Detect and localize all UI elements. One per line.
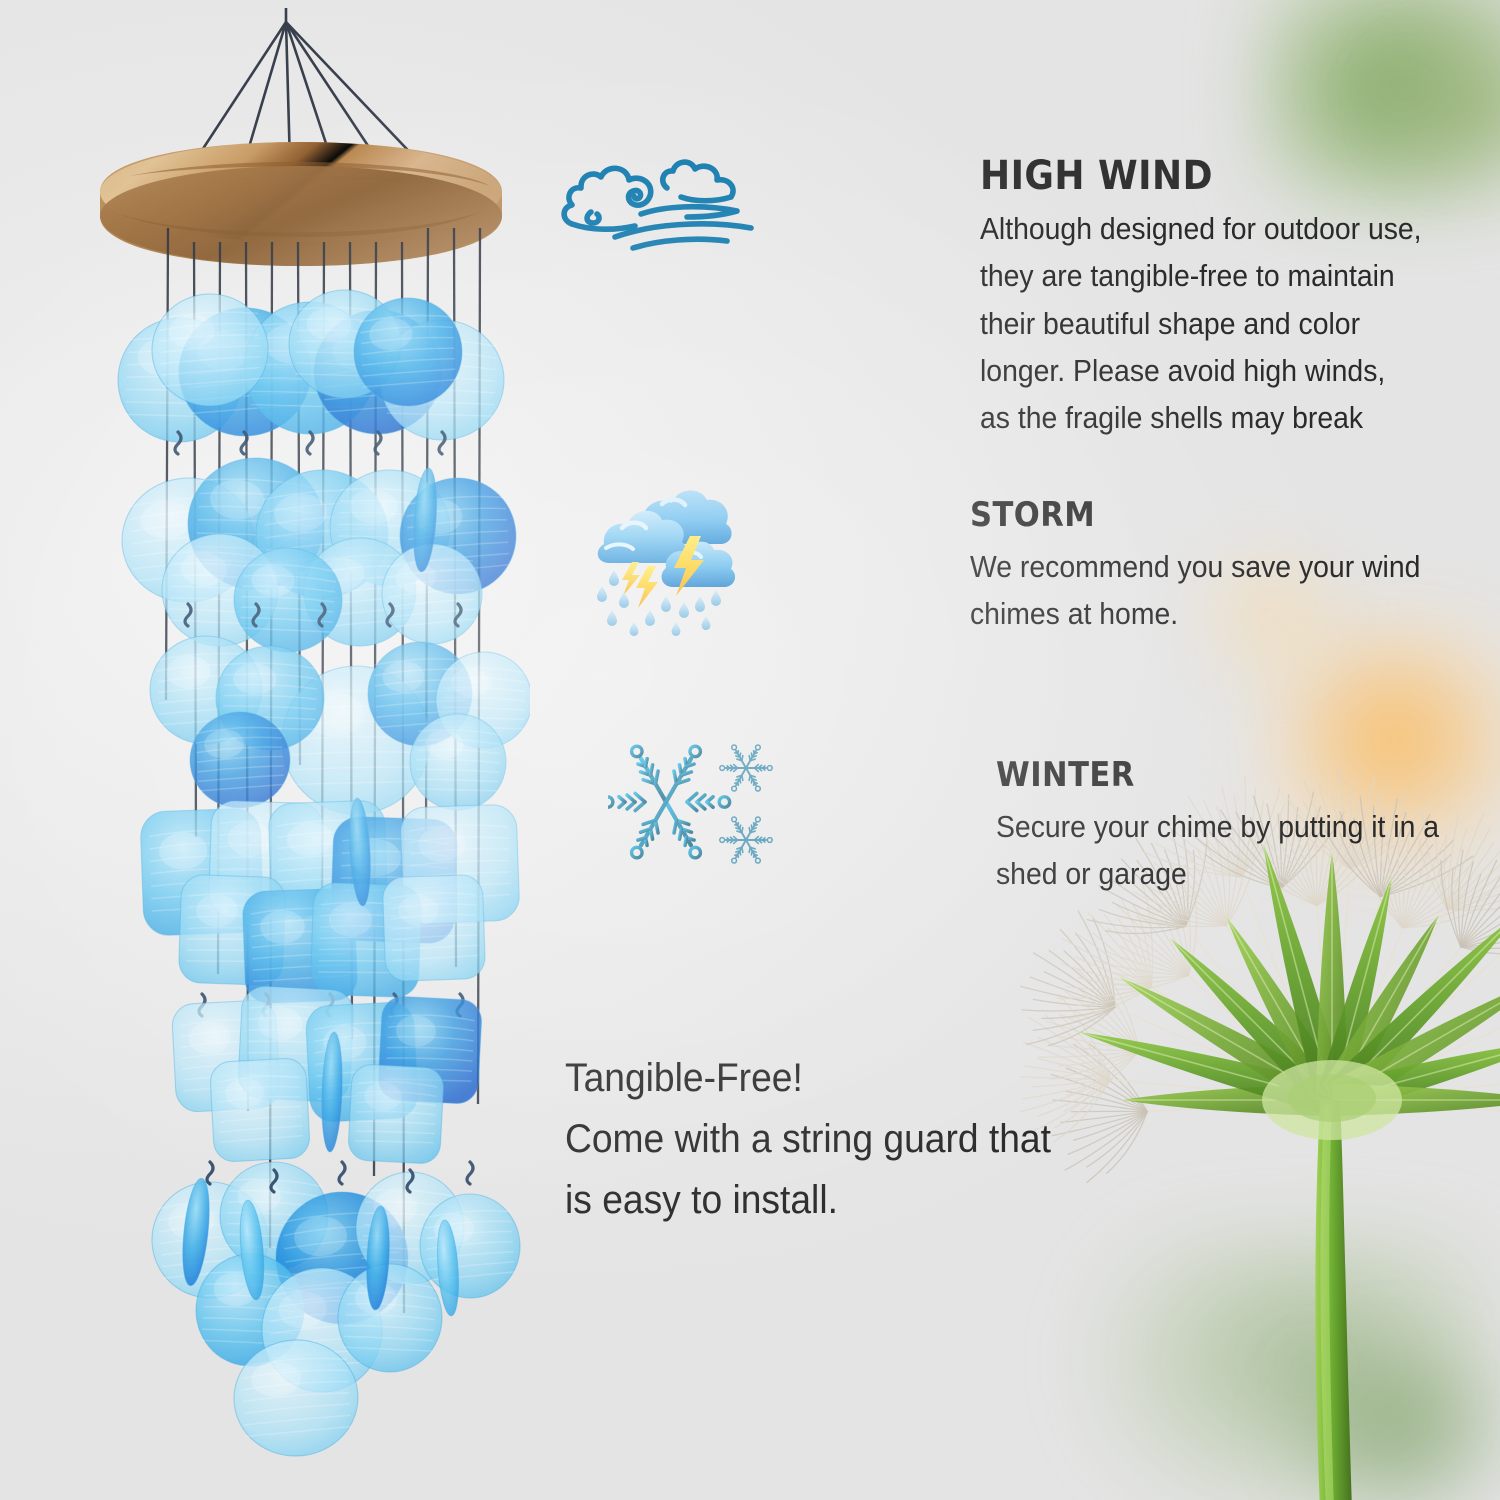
infographic-canvas: HIGH WIND Although designed for outdoor … (0, 0, 1500, 1500)
background-vignette (0, 0, 1500, 1500)
